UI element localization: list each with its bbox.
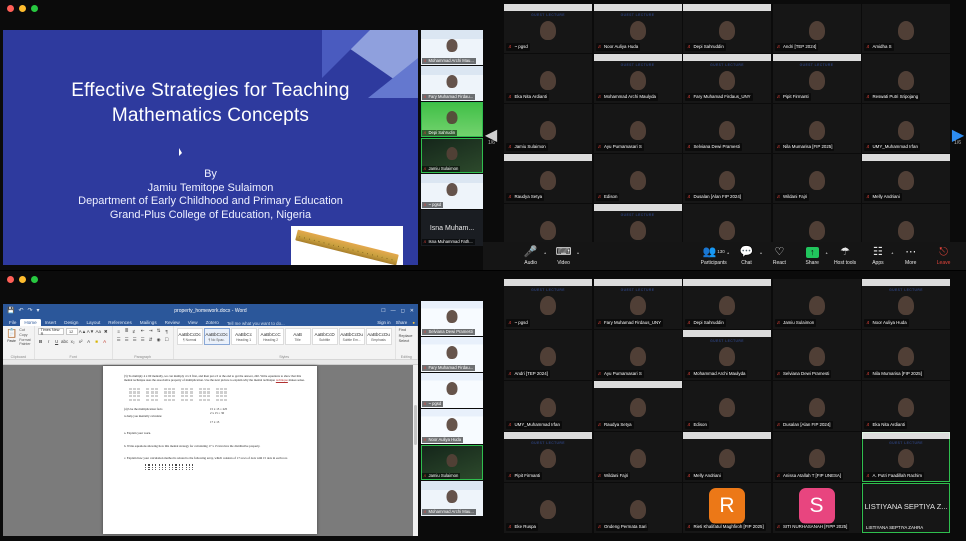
filmstrip-thumbnail[interactable]: ♬Mohammad Archi Mau... (421, 481, 483, 516)
gallery-tile[interactable]: ♬Melly Andriani (683, 432, 771, 482)
gallery-grid-2[interactable]: GUEST LECTURE♬~ pgsdGUEST LECTURE♬Fary M… (483, 271, 966, 541)
gallery-tile[interactable]: GUEST LECTURE♬~ pgsd (504, 4, 592, 53)
person-silhouette (630, 296, 646, 315)
guest-lecture-text: GUEST LECTURE (862, 441, 950, 445)
gallery-tile-avatar[interactable]: R♬Rieti Khalifatul Maghfiroh [FIP 2025] (683, 483, 771, 533)
filmstrip-thumbnail[interactable]: ♬Mohammad Archi Mau... (421, 30, 483, 65)
virtual-background-banner (683, 330, 771, 337)
ribbon-group-label: Paragraph (113, 355, 173, 359)
guest-lecture-text: GUEST LECTURE (594, 13, 682, 17)
subscript-icon[interactable]: x₂ (70, 338, 76, 344)
mic-muted-icon: ♬ (423, 166, 428, 171)
chevron-up-icon[interactable]: ▴ (727, 250, 729, 255)
mic-muted-icon: ♬ (866, 320, 871, 326)
gallery-tile[interactable]: ♬Reswati Putri Sripojang (862, 54, 950, 103)
participant-name-label: ♬Fary Muhamad Firdau... (422, 365, 475, 371)
gallery-tile[interactable]: ♬Jamiu Sulaimon (773, 279, 861, 329)
gallery-page-indicator-right: 1/6 (954, 140, 961, 146)
mic-muted-icon: ♬ (423, 130, 428, 135)
person-silhouette (898, 449, 914, 468)
participant-name-label: ♬~ pgsd (422, 202, 443, 208)
show-marks-icon[interactable]: ¶ (164, 328, 170, 334)
ribbon-group-label: Editing (396, 355, 417, 359)
block-group (164, 388, 175, 401)
spotlight-display-name: Isna Muham... (430, 225, 474, 232)
person-silhouette (630, 71, 646, 90)
word-tab-file[interactable]: File (5, 319, 20, 327)
person-silhouette (447, 346, 458, 359)
ribbon-group-styles: AaBbCcDc¶ NormalAaBbCcDc¶ No Spac.AaBbCc… (174, 326, 396, 359)
mic-muted-icon: ♬ (423, 473, 428, 478)
toolbar-label: More (905, 260, 916, 266)
style-card[interactable]: AaBbCcDuEmphasis (366, 328, 392, 345)
participant-filmstrip[interactable]: ♬Mohammad Archi Mau...♬Fary Muhamad Fird… (421, 30, 483, 246)
person-silhouette (447, 418, 458, 431)
gallery-page-indicator: 1/6 (488, 140, 495, 146)
virtual-background-banner (862, 279, 950, 286)
word-tab-design[interactable]: Design (60, 319, 82, 327)
change-case-icon[interactable]: Aa (96, 329, 102, 335)
scrollbar-thumb[interactable] (414, 405, 417, 445)
chevron-up-icon[interactable]: ▴ (544, 250, 546, 255)
zoom-window-gallery-bottom: GUEST LECTURE♬~ pgsdGUEST LECTURE♬Fary M… (483, 271, 966, 541)
mouse-cursor (179, 148, 182, 156)
participant-name-label: ♬Nila Mumarisa [FIP 2025] (775, 143, 835, 151)
toolbar-video-button[interactable]: ⌨Video▴ (547, 246, 580, 266)
leave-icon[interactable]: ⎋ (939, 246, 948, 259)
increase-indent-icon[interactable]: ⇥ (148, 328, 154, 334)
document-scrollbar[interactable] (413, 365, 418, 536)
microphone-muted-icon[interactable]: 🎤 (524, 246, 538, 259)
bullets-icon[interactable]: ≡ (116, 328, 122, 334)
participant-name-label: ♬Noor Auliya Huda (864, 319, 909, 327)
replace-button[interactable]: Replace (399, 334, 414, 338)
array-blocks-figure (129, 388, 305, 401)
decrease-indent-icon[interactable]: ⇤ (140, 328, 146, 334)
mic-muted-icon: ♬ (866, 44, 871, 50)
slide-ruler-image (291, 226, 403, 265)
word-tab-home[interactable]: Home (20, 319, 40, 327)
gallery-tile[interactable]: ♬Wildani Fajri (594, 432, 682, 482)
word-account-area[interactable]: Sign in Share ● (377, 320, 415, 325)
zoom-window-shared-screen: Effective Strategies for Teaching Mathem… (0, 0, 483, 270)
person-silhouette (447, 147, 458, 160)
gallery-tile[interactable]: ♬Nila Mumarisa [FIP 2025] (773, 104, 861, 153)
sign-in-link[interactable]: Sign in (377, 320, 390, 325)
document-page[interactable]: (3) To multiply 4 x 60 mentally, we can … (103, 366, 317, 534)
virtual-background-banner (504, 154, 592, 161)
question-3-link[interactable]: technique (276, 378, 288, 382)
gallery-tile[interactable]: ♬Andri [TEP 2024] (504, 330, 592, 380)
strikethrough-icon[interactable]: abc (62, 338, 68, 344)
mic-muted-icon: ♬ (777, 320, 782, 326)
word-window-buttons[interactable]: ☐ — ◻ ✕ (381, 308, 414, 314)
filmstrip-thumbnail[interactable]: ♬Depi Sahrudin (421, 102, 483, 137)
shrink-font-icon[interactable]: A▼ (88, 329, 94, 335)
gallery-tile[interactable]: ♬UMY_Muhammad Irfan (862, 104, 950, 153)
mic-muted-icon: ♬ (777, 422, 782, 428)
mic-muted-icon: ♬ (598, 371, 603, 377)
filmstrip-thumbnail[interactable]: ♬Selviana Dewi Pramesti (421, 301, 483, 336)
sort-icon[interactable]: ⇅ (156, 328, 162, 334)
person-silhouette (447, 183, 458, 196)
ribbon-group-label: Styles (174, 355, 395, 359)
guest-lecture-text: GUEST LECTURE (594, 288, 682, 292)
ribbon-display-icon[interactable]: ☐ (381, 308, 385, 314)
clear-formatting-icon[interactable]: ✖ (103, 329, 109, 335)
toolbar-more-button[interactable]: ⋯More (894, 246, 927, 266)
participant-name-label: ♬UMY_Muhammad Irfan (864, 143, 920, 151)
gallery-tile[interactable]: GUEST LECTURE♬Fary Muhamad Firdaus_UNY (594, 279, 682, 329)
shared-presentation-slide[interactable]: Effective Strategies for Teaching Mathem… (3, 30, 418, 265)
camera-icon[interactable]: ⌨ (556, 246, 572, 259)
word-tab-mailings[interactable]: Mailings (136, 319, 161, 327)
style-name: Emphasis (371, 338, 385, 342)
toolbar-host-tools-button[interactable]: ☂Host tools (829, 246, 862, 266)
person-silhouette (630, 500, 646, 519)
gallery-tile[interactable]: ♬Depi Sahruddin (683, 4, 771, 53)
gallery-tile-name-only[interactable]: LISTIYANA SEPTIYA Z...LISTIYANA SEPTIYA … (862, 483, 950, 533)
person-silhouette (540, 347, 556, 366)
minimize-icon[interactable]: — (391, 308, 396, 314)
toolbar-label: Share (806, 260, 819, 266)
minimize-icon[interactable] (19, 5, 26, 12)
zoom-window-gallery-top: GUEST LECTURE♬~ pgsdGUEST LECTURE♬Noor A… (483, 0, 966, 270)
style-preview: AaBbCc (235, 332, 252, 337)
mic-muted-icon: ♬ (777, 194, 782, 200)
participant-name-label: ♬Depi Sahruddin (685, 43, 726, 51)
grow-font-icon[interactable]: A▲ (80, 329, 86, 335)
gallery-tile[interactable]: ♬Amidha S (862, 4, 950, 53)
style-card[interactable]: AaBbCcDc¶ Normal (177, 328, 203, 345)
ruler-icon (295, 230, 399, 265)
block-group (129, 388, 140, 401)
gallery-tile[interactable]: ♬Depi Sahruddin (683, 279, 771, 329)
toolbar-label: Audio (524, 260, 537, 266)
style-card[interactable]: AaBbCcDc¶ No Spac. (204, 328, 230, 345)
word-document-canvas[interactable]: (3) To multiply 4 x 60 mentally, we can … (3, 360, 418, 536)
calculation-prompt: 17 x 15 (210, 420, 227, 424)
participant-name-label: ♬Mohammad Archi Mau... (422, 509, 476, 515)
gallery-tile[interactable]: ♬Edison (594, 154, 682, 203)
participant-name-label: ♬Reswati Putri Sripojang (864, 93, 920, 101)
italic-icon[interactable]: I (46, 338, 52, 344)
chat-icon[interactable]: 💬 (740, 246, 754, 259)
participant-name-label: ♬~ pgsd (506, 43, 530, 51)
participant-name-label: ♬Andri [TEP 2024] (775, 43, 819, 51)
slide-department: Department of Early Childhood and Primar… (3, 195, 418, 209)
gallery-tile[interactable]: ♬Edison (683, 381, 771, 431)
maximize-icon[interactable] (31, 276, 38, 283)
question-3-paragraph: (3) To multiply 4 x 60 mentally, we can … (115, 374, 305, 383)
mic-muted-icon: ♬ (777, 144, 782, 150)
style-preview: AaBbCcDc (178, 332, 200, 337)
slide-institution: Grand-Plus College of Education, Nigeria (3, 209, 418, 223)
participant-name-label: ♬UMY_Muhammad Irfan (506, 421, 562, 429)
gallery-tile[interactable]: ♬Anissa Atallah T [FIP UNESA] (773, 432, 861, 482)
mic-muted-icon: ♬ (508, 320, 513, 326)
style-card[interactable]: AaBbCcDuSubtle Em... (339, 328, 365, 345)
virtual-background-banner (504, 4, 592, 11)
person-silhouette (540, 171, 556, 190)
gallery-tile-avatar[interactable]: S♬SITI NURHASANAH [FIPP 2025] (773, 483, 861, 533)
window-traffic-lights[interactable] (7, 5, 38, 12)
participant-name-label: ♬Nila Mumarisa [FIP 2025] (864, 370, 924, 378)
word-tab-references[interactable]: References (104, 319, 136, 327)
participant-name-label: ♬Eke Ruspa (506, 523, 538, 531)
filmstrip-thumbnail[interactable]: ♬~ pgsd (421, 174, 483, 209)
select-button[interactable]: Select (399, 339, 414, 343)
share-screen-icon[interactable]: ↑ (806, 247, 819, 258)
style-card[interactable]: AaBbCcHeading 1 (231, 328, 257, 345)
chevron-up-icon[interactable]: ▴ (577, 250, 579, 255)
filmstrip-thumbnail[interactable]: ♬Jamiu Sulaimon (421, 445, 483, 480)
chevron-up-icon[interactable]: ▴ (760, 250, 762, 255)
maximize-icon[interactable]: ◻ (401, 308, 405, 314)
filmstrip-thumbnail[interactable]: ♬~ pgsd (421, 373, 483, 408)
person-silhouette (630, 171, 646, 190)
gallery-grid[interactable]: GUEST LECTURE♬~ pgsdGUEST LECTURE♬Noor A… (483, 0, 966, 270)
participant-name-label: ♬Selviana Dewi Pramesti (775, 370, 832, 378)
mic-muted-icon: ♬ (423, 509, 428, 514)
toolbar-audio-button[interactable]: 🎤Audio▴ (514, 246, 547, 266)
more-icon[interactable]: ⋯ (905, 246, 916, 259)
mic-muted-icon: ♬ (687, 144, 692, 150)
block-group (199, 388, 210, 401)
style-name: Subtle Em... (343, 338, 361, 342)
format-painter-button[interactable]: Format Painter (19, 338, 30, 346)
filmstrip-thumbnail[interactable]: ♬Noor Auliya Huda (421, 409, 483, 444)
line-spacing-icon[interactable]: ⇵ (148, 337, 154, 343)
participants-count: 130 (717, 250, 725, 255)
share-button[interactable]: Share (396, 320, 408, 325)
word-tab-review[interactable]: Review (161, 319, 184, 327)
question-3-text: To multiply 4 x 60 mentally, we can mult… (124, 374, 301, 382)
gallery-tile[interactable]: ♬Ayu Purnamasari S (594, 330, 682, 380)
participant-name-label: ♬Jamiu Sulaimon (775, 319, 817, 327)
person-silhouette (898, 221, 914, 240)
participant-name-label: ♬~ pgsd (506, 319, 530, 327)
participant-filmstrip-2[interactable]: ♬Selviana Dewi Pramesti♬Fary Muhamad Fir… (421, 301, 483, 517)
toolbar-label: Apps (872, 260, 883, 266)
virtual-background-banner (594, 54, 682, 61)
mic-muted-icon: ♬ (866, 371, 871, 377)
filmstrip-thumbnail[interactable]: ♬Jamiu Sulaimon (421, 138, 483, 173)
fact-2: 2 x 15 = 30 (210, 411, 227, 415)
participant-name-label: ♬Mohammad Archi Mau... (422, 58, 476, 64)
window-traffic-lights-2[interactable] (7, 276, 38, 283)
heart-icon[interactable]: ♡ (774, 246, 784, 259)
zoom-meeting-toolbar[interactable]: 🎤Audio▴⌨Video▴👥130Participants▴💬Chat▴♡Re… (483, 242, 966, 270)
minimize-icon[interactable] (19, 276, 26, 283)
gallery-tile[interactable]: ♬Eke Ruspa (504, 483, 592, 533)
virtual-background-banner (594, 204, 682, 211)
justify-icon[interactable]: ☰ (140, 337, 146, 343)
close-icon[interactable] (7, 5, 14, 12)
style-card[interactable]: AaBbCcCHeading 2 (258, 328, 284, 345)
gallery-tile[interactable]: ♬Ondeng Permata Sari (594, 483, 682, 533)
close-icon[interactable] (7, 276, 14, 283)
smiley-feedback-icon[interactable]: ● (412, 320, 415, 325)
slide-title-line2: Mathematics Concepts (3, 103, 418, 128)
highlight-color-icon[interactable]: ■ (94, 338, 100, 344)
share-screen-icon[interactable]: ↑ (806, 246, 819, 259)
mic-muted-icon: ♬ (777, 473, 782, 479)
participant-name-label: ♬Depi Sahrudin (422, 130, 457, 136)
mic-muted-icon: ♬ (598, 473, 603, 479)
paste-icon[interactable]: 📋 (6, 328, 17, 339)
mic-muted-icon: ♬ (687, 94, 692, 100)
question-4-text: Use the multiplication facts (128, 407, 162, 411)
find-button[interactable]: Find (399, 328, 414, 332)
participant-name-label: ♬Eka Nita Ardianti (864, 421, 907, 429)
toolbar-participants-button[interactable]: 👥130Participants▴ (697, 246, 730, 266)
ribbon-group-label: Clipboard (3, 355, 34, 359)
font-name-input[interactable]: Times New R (38, 328, 64, 335)
participant-name-label: ♬Wildani Fajri (775, 193, 810, 201)
virtual-background-banner (683, 54, 771, 61)
gallery-tile[interactable]: ♬Ayu Purnamasari S (594, 104, 682, 153)
font-color-icon[interactable]: A (102, 338, 108, 344)
participant-name-label: ♬Selviana Dewi Pramesti (422, 329, 475, 335)
style-preview: AaBbCcC (261, 332, 281, 337)
person-silhouette (898, 296, 914, 315)
word-tab-zotero[interactable]: Zotero (202, 319, 223, 327)
gallery-tile[interactable]: GUEST LECTURE♬Pipit Firmanti (773, 54, 861, 103)
gallery-tile[interactable]: ♬Selviana Dewi Pramesti (683, 104, 771, 153)
gallery-tile[interactable]: GUEST LECTURE♬A. Putri Faadillah Rachim (862, 432, 950, 482)
underline-icon[interactable]: U (54, 338, 60, 344)
mic-muted-icon: ♬ (598, 422, 603, 428)
person-silhouette (809, 121, 825, 140)
word-tab-view[interactable]: View (184, 319, 202, 327)
toolbar-share-button[interactable]: ↑Share▴ (796, 246, 829, 266)
align-left-icon[interactable]: ☰ (116, 337, 122, 343)
gallery-tile[interactable]: GUEST LECTURE♬Mohammad Archi Maulyda (683, 330, 771, 380)
mic-muted-icon: ♬ (687, 422, 692, 428)
horizontal-ruler (3, 360, 418, 365)
numbering-icon[interactable]: ≣ (124, 328, 130, 334)
shading-icon[interactable]: ◉ (156, 337, 162, 343)
participant-name-label: ♬Wildani Fajri (596, 472, 631, 480)
dot-array-figure (145, 464, 305, 470)
leave-meeting-button[interactable]: ⎋Leave (927, 246, 960, 266)
person-silhouette (630, 121, 646, 140)
bold-icon[interactable]: B (38, 338, 44, 344)
shield-icon[interactable]: ☂ (840, 246, 850, 259)
gallery-tile[interactable]: ♬Nila Mumarisa [FIP 2025] (862, 330, 950, 380)
chevron-up-icon[interactable]: ▴ (826, 250, 828, 255)
gallery-tile[interactable]: GUEST LECTURE♬Noor Auliya Huda (594, 4, 682, 53)
person-silhouette (447, 111, 458, 124)
gallery-tile[interactable]: GUEST LECTURE♬Fary Muhamad Firdaus_UNY (683, 54, 771, 103)
chevron-up-icon[interactable]: ▴ (891, 250, 893, 255)
filmstrip-spotlight[interactable]: Isna Muham...♬Isna Muhammad Fath... (421, 210, 483, 246)
gallery-tile[interactable]: ♬Jamiu Sulaimon (504, 104, 592, 153)
gallery-tile[interactable]: GUEST LECTURE♬Noor Auliya Huda (862, 279, 950, 329)
question-4-block: (4) Use the multiplication facts to help… (115, 407, 305, 424)
toolbar-chat-button[interactable]: 💬Chat▴ (730, 246, 763, 266)
gallery-tile[interactable]: ♬Melly Andriani (862, 154, 950, 203)
participant-name-label: ♬Fary Muhamad Firdaus_UNY (685, 93, 753, 101)
cut-button[interactable]: Cut (19, 328, 30, 332)
toolbar-react-button[interactable]: ♡React (763, 246, 796, 266)
word-ribbon-tabs[interactable]: FileHomeInsertDesignLayoutReferencesMail… (3, 317, 418, 326)
mic-muted-icon: ♬ (598, 320, 603, 326)
gallery-tile[interactable]: ♬Raudya Setya (504, 154, 592, 203)
gallery-tile[interactable]: GUEST LECTURE♬Mohammad Archi Maulyda (594, 54, 682, 103)
filmstrip-thumbnail[interactable]: ♬Fary Muhamad Firdau... (421, 337, 483, 372)
paste-label[interactable]: Paste (7, 339, 16, 343)
participants-icon[interactable]: 👥130 (703, 246, 725, 259)
filmstrip-thumbnail[interactable]: ♬Fary Muhamad Firdau... (421, 66, 483, 101)
participant-name-label: ♬Anissa Atallah T [FIP UNESA] (775, 472, 844, 480)
virtual-background-banner (683, 432, 771, 439)
toolbar-apps-button[interactable]: ☷Apps▴ (861, 246, 894, 266)
multilevel-list-icon[interactable]: ≢ (132, 328, 138, 334)
ribbon-group-editing: Find Replace Select Editing (396, 326, 418, 359)
person-silhouette (447, 382, 458, 395)
virtual-background-banner (862, 432, 950, 439)
copy-button[interactable]: Copy (19, 333, 30, 337)
text-effects-icon[interactable]: A (86, 338, 92, 344)
person-silhouette (630, 449, 646, 468)
close-icon[interactable]: ✕ (410, 308, 414, 314)
word-tab-insert[interactable]: Insert (41, 319, 61, 327)
person-silhouette (809, 398, 825, 417)
gallery-tile[interactable]: ♬Raudya Setya (594, 381, 682, 431)
style-preview: AaB (293, 332, 302, 337)
gallery-tile[interactable]: ♬Eka Nita Ardianti (504, 54, 592, 103)
gallery-tile[interactable]: GUEST LECTURE♬Pipit Firmanti (504, 432, 592, 482)
gallery-tile[interactable]: ♬Wildani Fajri (773, 154, 861, 203)
gallery-tile[interactable]: GUEST LECTURE♬~ pgsd (504, 279, 592, 329)
word-tab-layout[interactable]: Layout (82, 319, 104, 327)
align-center-icon[interactable]: ☰ (124, 337, 130, 343)
mic-muted-icon: ♬ (508, 94, 513, 100)
ribbon-group-paragraph: ≡ ≣ ≢ ⇤ ⇥ ⇅ ¶ ☰ ☰ ☰ ☰ ⇵ ◉ (113, 326, 174, 359)
gallery-tile[interactable]: ♬Selviana Dewi Pramesti (773, 330, 861, 380)
mic-muted-icon: ♬ (508, 422, 513, 428)
style-card[interactable]: AaBbCcDSubtitle (312, 328, 338, 345)
align-right-icon[interactable]: ☰ (132, 337, 138, 343)
gallery-tile[interactable]: ♬Eka Nita Ardianti (862, 381, 950, 431)
mic-muted-icon: ♬ (777, 524, 782, 530)
mic-muted-icon: ♬ (598, 194, 603, 200)
apps-icon[interactable]: ☷ (873, 246, 883, 259)
borders-icon[interactable]: ☐ (164, 337, 170, 343)
question-4c: c. Explain how your calculation method i… (115, 456, 305, 460)
mic-muted-icon: ♬ (508, 144, 513, 150)
word-ribbon[interactable]: 📋 Paste Cut Copy Format Painter Clipboar… (3, 326, 418, 360)
mic-muted-icon: ♬ (687, 44, 692, 50)
superscript-icon[interactable]: x² (78, 338, 84, 344)
maximize-icon[interactable] (31, 5, 38, 12)
gallery-tile[interactable]: ♬Dusalan [Alan FIP 2024] (683, 154, 771, 203)
gallery-tile[interactable]: ♬Dusalan [Alan FIP 2024] (773, 381, 861, 431)
participant-name-label: ♬Raudya Setya (596, 421, 634, 429)
font-size-input[interactable]: 12 (66, 328, 78, 335)
person-silhouette (898, 121, 914, 140)
style-card[interactable]: AaBTitle (285, 328, 311, 345)
gallery-tile[interactable]: ♬UMY_Muhammad Irfan (504, 381, 592, 431)
style-name: ¶ Normal (183, 338, 196, 342)
style-name: Subtitle (319, 338, 330, 342)
gallery-tile[interactable]: ♬Andri [TEP 2024] (773, 4, 861, 53)
participant-name-label: ♬~ pgsd (422, 401, 443, 407)
slide-author-block: By Jamiu Temitope Sulaimon Department of… (3, 168, 418, 222)
guest-lecture-text: GUEST LECTURE (683, 339, 771, 343)
